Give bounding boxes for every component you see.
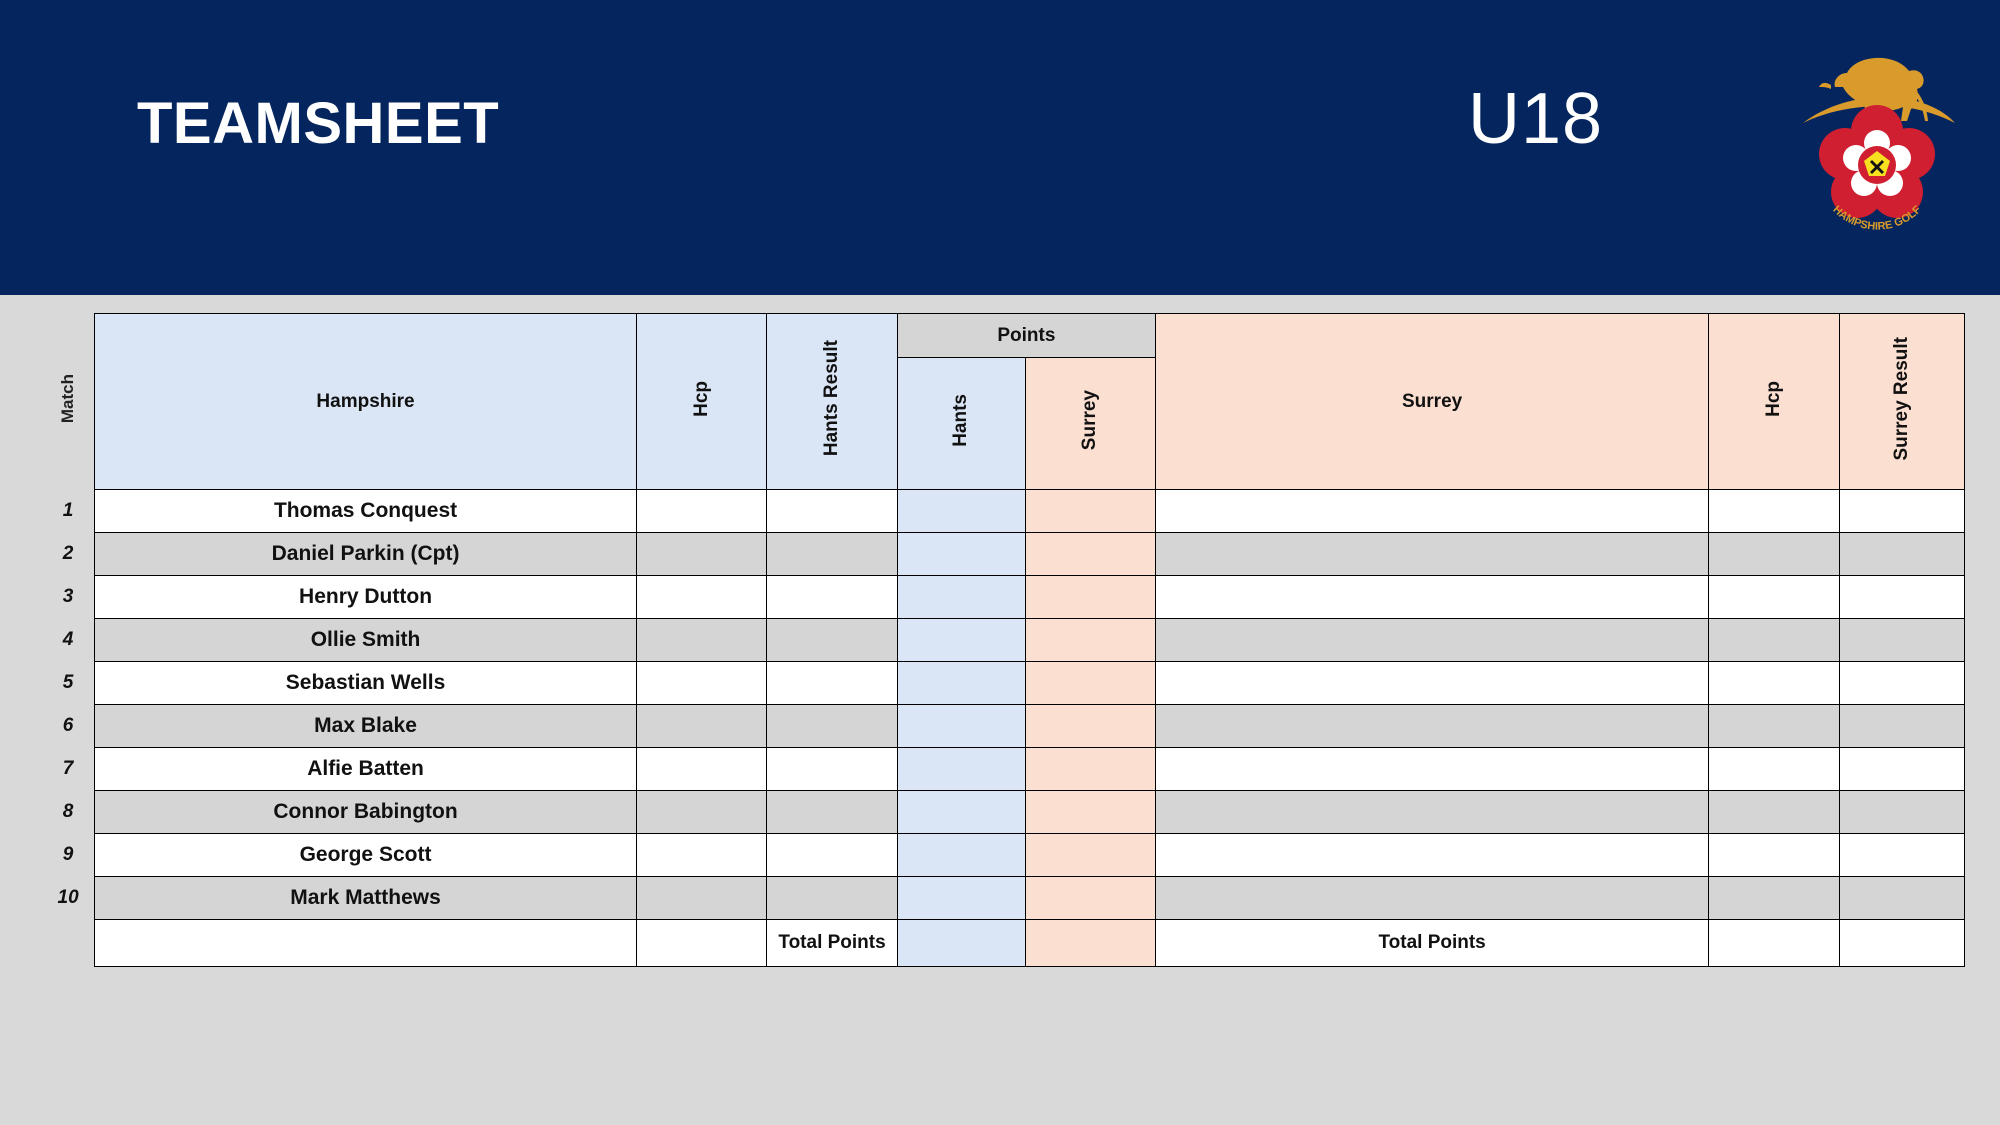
hants-result-cell[interactable] [767, 834, 897, 877]
match-number: 7 [42, 748, 95, 791]
hants-hcp-cell[interactable] [636, 791, 766, 834]
header-surrey-result-label: Surrey Result [1891, 337, 1913, 461]
hampshire-player-name[interactable]: Connor Babington [95, 791, 637, 834]
table-row: 7 Alfie Batten [42, 748, 1965, 791]
header-surrey-hcp-label: Hcp [1763, 381, 1785, 417]
total-surrey-hcp-cell[interactable] [1709, 920, 1839, 967]
points-hants-cell[interactable] [897, 877, 1025, 920]
table-row: 8 Connor Babington [42, 791, 1965, 834]
table-row: 1 Thomas Conquest [42, 490, 1965, 533]
total-points-label-hants: Total Points [767, 920, 897, 967]
match-column-header-label: Match [58, 374, 78, 423]
table-row: 3 Henry Dutton [42, 576, 1965, 619]
hants-result-cell[interactable] [767, 490, 897, 533]
hampshire-player-name[interactable]: Sebastian Wells [95, 662, 637, 705]
hants-result-cell[interactable] [767, 748, 897, 791]
surrey-result-cell[interactable] [1839, 791, 1964, 834]
hants-hcp-cell[interactable] [636, 877, 766, 920]
table-row: 9 George Scott [42, 834, 1965, 877]
hampshire-player-name[interactable]: Max Blake [95, 705, 637, 748]
hants-result-cell[interactable] [767, 791, 897, 834]
points-hants-cell[interactable] [897, 834, 1025, 877]
match-number-empty [42, 920, 95, 967]
surrey-result-cell[interactable] [1839, 533, 1964, 576]
match-number: 9 [42, 834, 95, 877]
hants-hcp-cell[interactable] [636, 705, 766, 748]
header-hants-hcp-label: Hcp [691, 381, 713, 417]
surrey-result-cell[interactable] [1839, 705, 1964, 748]
hants-hcp-cell[interactable] [636, 748, 766, 791]
hants-result-cell[interactable] [767, 576, 897, 619]
hampshire-player-name[interactable]: George Scott [95, 834, 637, 877]
points-surrey-cell[interactable] [1025, 619, 1155, 662]
points-surrey-cell[interactable] [1025, 791, 1155, 834]
hampshire-player-name[interactable]: Henry Dutton [95, 576, 637, 619]
surrey-player-name[interactable] [1156, 791, 1709, 834]
points-surrey-cell[interactable] [1025, 533, 1155, 576]
surrey-hcp-cell[interactable] [1709, 490, 1839, 533]
surrey-hcp-cell[interactable] [1709, 662, 1839, 705]
surrey-hcp-cell[interactable] [1709, 791, 1839, 834]
hants-hcp-cell[interactable] [636, 619, 766, 662]
points-hants-cell[interactable] [897, 619, 1025, 662]
surrey-player-name[interactable] [1156, 662, 1709, 705]
age-group-label: U18 [1468, 78, 1603, 160]
total-points-surrey-value[interactable] [1025, 920, 1155, 967]
hants-result-cell[interactable] [767, 877, 897, 920]
header-hampshire: Hampshire [95, 314, 637, 490]
match-number: 8 [42, 791, 95, 834]
match-number: 3 [42, 576, 95, 619]
header-row-top: Match Hampshire Hcp Hants Result Points … [42, 314, 1965, 358]
header-points-surrey-label: Surrey [1079, 390, 1101, 450]
surrey-result-cell[interactable] [1839, 576, 1964, 619]
surrey-result-cell[interactable] [1839, 490, 1964, 533]
table-row: 2 Daniel Parkin (Cpt) [42, 533, 1965, 576]
match-number: 2 [42, 533, 95, 576]
hants-hcp-cell[interactable] [636, 490, 766, 533]
header-points-hants-label: Hants [950, 394, 972, 447]
total-points-label-surrey: Total Points [1156, 920, 1709, 967]
points-hants-cell[interactable] [897, 490, 1025, 533]
header-points: Points [897, 314, 1155, 358]
match-number: 5 [42, 662, 95, 705]
surrey-player-name[interactable] [1156, 748, 1709, 791]
surrey-player-name[interactable] [1156, 705, 1709, 748]
table-row: 6 Max Blake [42, 705, 1965, 748]
hants-result-cell[interactable] [767, 619, 897, 662]
points-surrey-cell[interactable] [1025, 662, 1155, 705]
points-surrey-cell[interactable] [1025, 705, 1155, 748]
surrey-player-name[interactable] [1156, 877, 1709, 920]
surrey-player-name[interactable] [1156, 490, 1709, 533]
points-surrey-cell[interactable] [1025, 834, 1155, 877]
header-surrey-hcp: Hcp [1709, 314, 1839, 490]
hants-result-cell[interactable] [767, 662, 897, 705]
total-spacer-hampshire [95, 920, 637, 967]
total-points-row: Total Points Total Points [42, 920, 1965, 967]
surrey-player-name[interactable] [1156, 834, 1709, 877]
hants-hcp-cell[interactable] [636, 662, 766, 705]
header-points-hants: Hants [897, 358, 1025, 490]
surrey-result-cell[interactable] [1839, 748, 1964, 791]
hampshire-player-name[interactable]: Daniel Parkin (Cpt) [95, 533, 637, 576]
total-spacer-hants-hcp [636, 920, 766, 967]
match-number: 6 [42, 705, 95, 748]
hants-hcp-cell[interactable] [636, 834, 766, 877]
header-banner: TEAMSHEET U18 [0, 0, 2000, 295]
header-hants-hcp: Hcp [636, 314, 766, 490]
surrey-hcp-cell[interactable] [1709, 705, 1839, 748]
surrey-player-name[interactable] [1156, 533, 1709, 576]
surrey-hcp-cell[interactable] [1709, 877, 1839, 920]
header-points-surrey: Surrey [1025, 358, 1155, 490]
points-surrey-cell[interactable] [1025, 490, 1155, 533]
teamsheet-page: TEAMSHEET U18 [0, 0, 2000, 1125]
hampshire-player-name[interactable]: Thomas Conquest [95, 490, 637, 533]
hampshire-player-name[interactable]: Alfie Batten [95, 748, 637, 791]
match-number: 10 [42, 877, 95, 920]
surrey-hcp-cell[interactable] [1709, 576, 1839, 619]
teamsheet-table: Match Hampshire Hcp Hants Result Points … [42, 313, 1965, 967]
hampshire-player-name[interactable]: Ollie Smith [95, 619, 637, 662]
surrey-result-cell[interactable] [1839, 877, 1964, 920]
header-surrey: Surrey [1156, 314, 1709, 490]
total-surrey-result-cell[interactable] [1839, 920, 1964, 967]
hampshire-golf-logo: HAMPSHIRE GOLF [1795, 25, 1960, 230]
points-surrey-cell[interactable] [1025, 748, 1155, 791]
hants-result-cell[interactable] [767, 705, 897, 748]
points-surrey-cell[interactable] [1025, 877, 1155, 920]
surrey-result-cell[interactable] [1839, 619, 1964, 662]
total-points-hants-value[interactable] [897, 920, 1025, 967]
surrey-hcp-cell[interactable] [1709, 834, 1839, 877]
surrey-hcp-cell[interactable] [1709, 619, 1839, 662]
hants-hcp-cell[interactable] [636, 576, 766, 619]
hants-hcp-cell[interactable] [636, 533, 766, 576]
hants-result-cell[interactable] [767, 533, 897, 576]
hampshire-player-name[interactable]: Mark Matthews [95, 877, 637, 920]
surrey-result-cell[interactable] [1839, 662, 1964, 705]
surrey-player-name[interactable] [1156, 619, 1709, 662]
surrey-hcp-cell[interactable] [1709, 533, 1839, 576]
page-title: TEAMSHEET [137, 90, 499, 157]
match-number: 4 [42, 619, 95, 662]
header-hants-result-label: Hants Result [821, 340, 843, 456]
points-hants-cell[interactable] [897, 533, 1025, 576]
points-hants-cell[interactable] [897, 791, 1025, 834]
surrey-hcp-cell[interactable] [1709, 748, 1839, 791]
match-number: 1 [42, 490, 95, 533]
table-row: 5 Sebastian Wells [42, 662, 1965, 705]
points-surrey-cell[interactable] [1025, 576, 1155, 619]
points-hants-cell[interactable] [897, 576, 1025, 619]
surrey-result-cell[interactable] [1839, 834, 1964, 877]
match-column-header: Match [42, 314, 95, 490]
points-hants-cell[interactable] [897, 662, 1025, 705]
points-hants-cell[interactable] [897, 748, 1025, 791]
table-row: 4 Ollie Smith [42, 619, 1965, 662]
header-surrey-result: Surrey Result [1839, 314, 1964, 490]
surrey-player-name[interactable] [1156, 576, 1709, 619]
table-row: 10 Mark Matthews [42, 877, 1965, 920]
points-hants-cell[interactable] [897, 705, 1025, 748]
header-hants-result: Hants Result [767, 314, 897, 490]
